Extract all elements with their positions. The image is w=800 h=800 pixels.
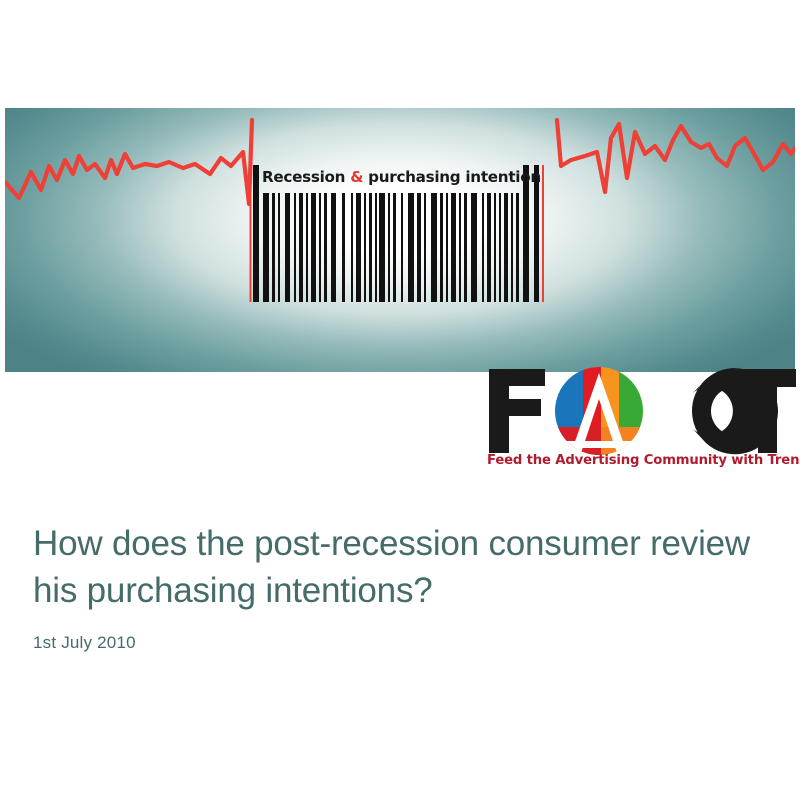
slide-page: { "page": { "background_color": "#ffffff… xyxy=(0,0,800,800)
chart-line-left xyxy=(5,120,252,204)
barcode-title-suffix: purchasing intention xyxy=(363,168,541,186)
chart-line-right xyxy=(557,120,795,192)
fact-logo-mark xyxy=(487,365,797,457)
logo-letter-f xyxy=(489,369,545,453)
fact-logo-tagline: Feed the Advertising Community with Tren… xyxy=(487,453,797,468)
barcode-guard-left xyxy=(250,165,252,302)
page-title: How does the post-recession consumer rev… xyxy=(33,520,763,614)
barcode-title-ampersand: & xyxy=(350,168,363,186)
logo-circle-a-icon xyxy=(555,367,645,457)
title-block: How does the post-recession consumer rev… xyxy=(33,520,763,654)
banner-hero-image: Recession & purchasing intention xyxy=(5,108,795,372)
fact-logo: Feed the Advertising Community with Tren… xyxy=(487,365,797,480)
barcode-title-text: Recession & purchasing intention xyxy=(262,165,547,189)
barcode-graphic: Recession & purchasing intention xyxy=(248,165,553,302)
page-date: 1st July 2010 xyxy=(33,614,763,654)
barcode-title-prefix: Recession xyxy=(262,168,350,186)
